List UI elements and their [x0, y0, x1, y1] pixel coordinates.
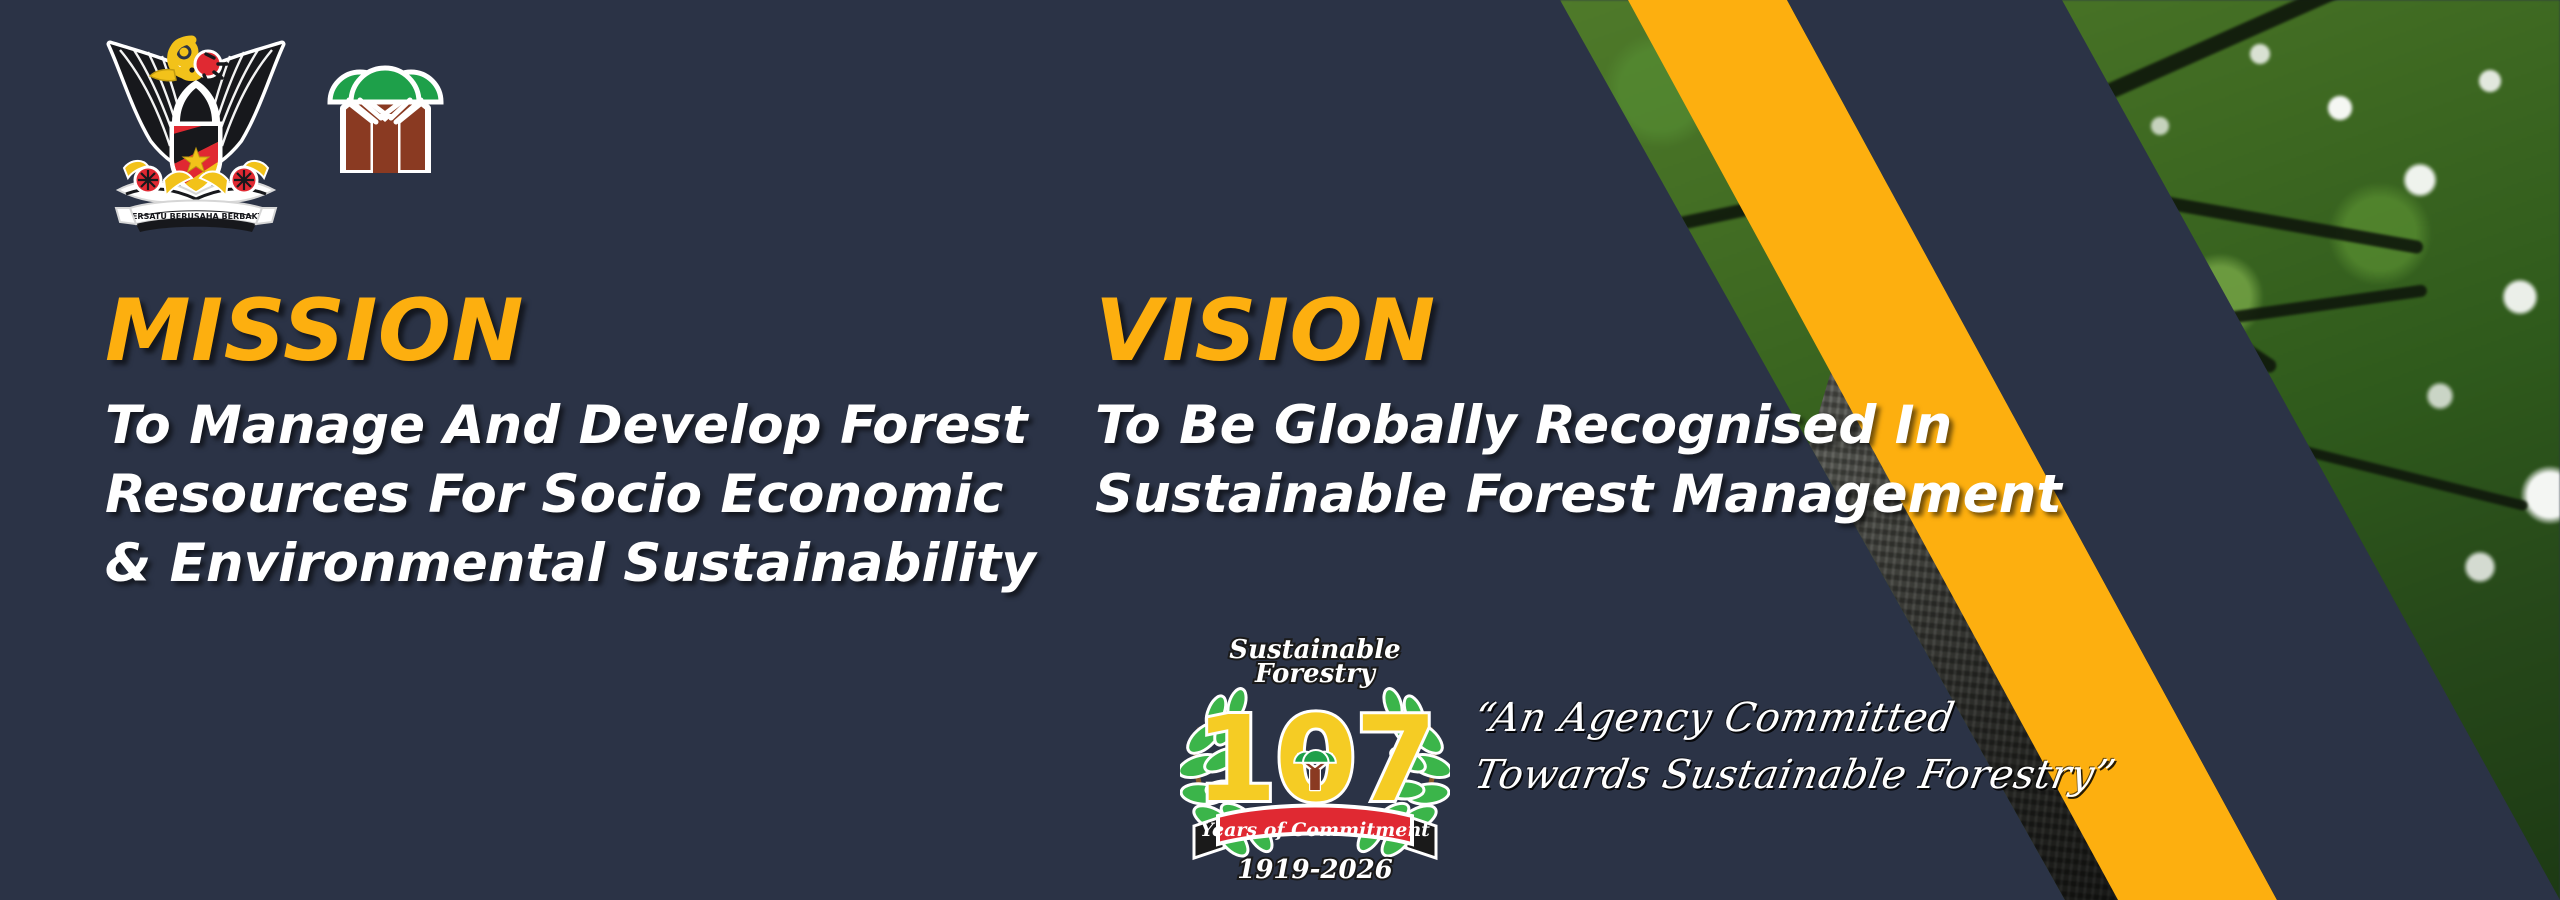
mission-statement: To Manage And Develop Forest Resources F…	[105, 392, 985, 599]
tagline-line-2: Towards Sustainable Forestry”	[1460, 747, 2090, 804]
emblem-year-range: 1919-2026	[1237, 855, 1393, 885]
sarawak-coat-of-arms-icon: BERSATU BERUSAHA BERBAKTI	[96, 18, 296, 236]
vision-line-1: To Be Globally Recognised In	[1095, 392, 2055, 461]
logo-row: BERSATU BERUSAHA BERBAKTI	[96, 18, 453, 236]
mission-heading: MISSION	[105, 288, 985, 374]
vision-line-2: Sustainable Forest Management	[1095, 461, 2055, 530]
vision-block: VISION To Be Globally Recognised In Sust…	[1095, 288, 2055, 530]
vision-statement: To Be Globally Recognised In Sustainable…	[1095, 392, 2055, 530]
mission-line-3: & Environmental Sustainability	[105, 530, 985, 599]
mission-line-2: Resources For Socio Economic	[105, 461, 985, 530]
forest-department-tree-logo-icon	[318, 18, 453, 173]
tagline-line-1: “An Agency Committed	[1470, 690, 2100, 747]
emblem-banner-text: Years of Commitment	[1200, 819, 1430, 841]
anniversary-107-emblem: Sustainable Forestry 107 Years of Comm	[1180, 620, 1450, 888]
agency-tagline: “An Agency Committed Towards Sustainable…	[1460, 690, 2100, 804]
mission-block: MISSION To Manage And Develop Forest Res…	[105, 288, 985, 599]
mission-line-1: To Manage And Develop Forest	[105, 392, 985, 461]
emblem-forestry-text: Forestry	[1254, 659, 1377, 689]
mission-vision-banner: BERSATU BERUSAHA BERBAKTI	[0, 0, 2560, 900]
emblem-top-text: Sustainable Forestry	[1229, 635, 1400, 689]
vision-heading: VISION	[1095, 288, 2055, 374]
